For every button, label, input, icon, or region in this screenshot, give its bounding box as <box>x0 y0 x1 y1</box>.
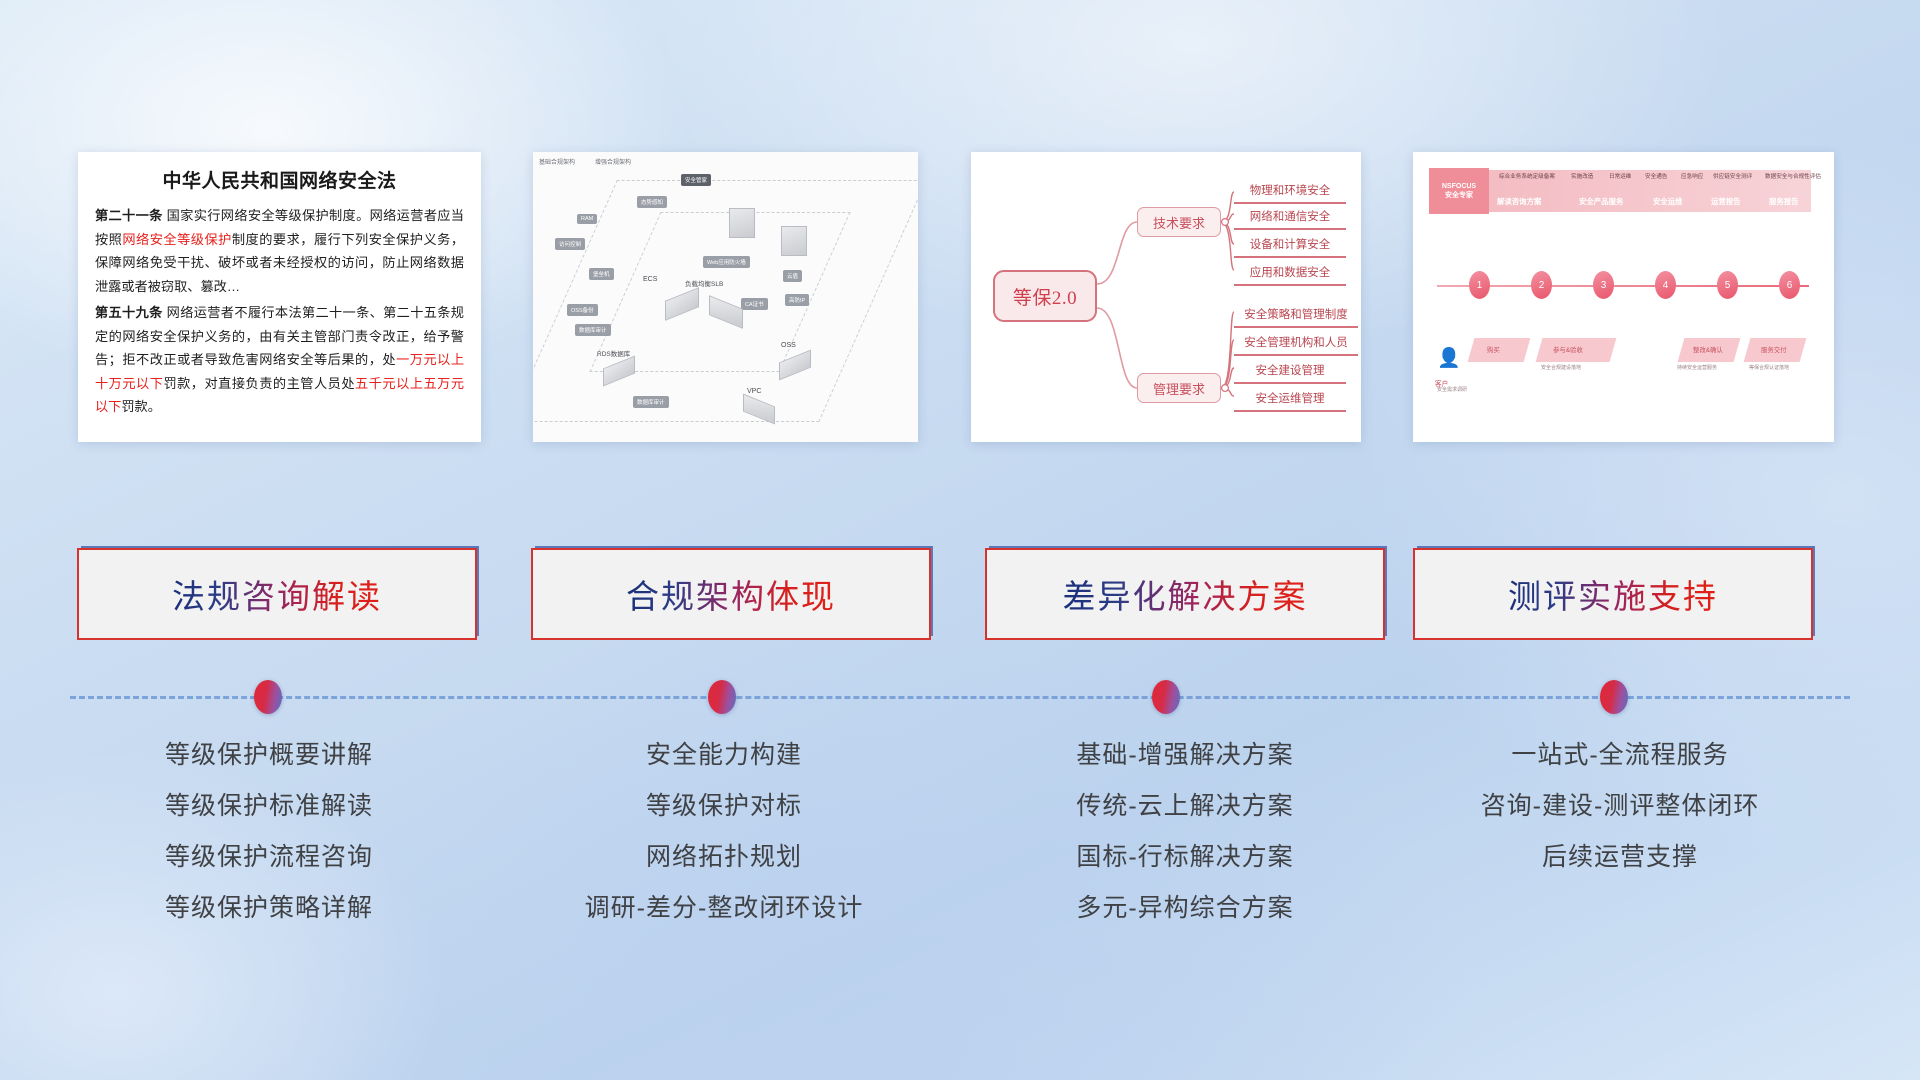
list-item: 国标-行标解决方案 <box>960 832 1410 883</box>
nsfocus-infographic: NSFOCUS 安全专家 综合业务系统定级备案 实施改造 日常运维 安全通告 应… <box>1413 152 1834 442</box>
cloud-node-waf: Web应用防火墙 <box>703 256 750 268</box>
list-item: 基础-增强解决方案 <box>960 730 1410 781</box>
nsfocus-step-6: 6 <box>1779 271 1800 299</box>
timeline-dot-4[interactable] <box>1600 680 1628 714</box>
list-item: 调研-差分-整改闭环设计 <box>515 883 933 934</box>
nsfocus-bottom-sub-3: 持续安全运营服务 <box>1677 364 1717 371</box>
mindmap-leaf-physical-env: 物理和环境安全 <box>1234 178 1346 204</box>
nsfocus-step-3: 3 <box>1593 271 1614 299</box>
cloud-node-ram: RAM <box>577 214 597 224</box>
mindmap-leaf-org-personnel: 安全管理机构和人员 <box>1234 330 1358 356</box>
section-title-label-1: 法规咨询解读 <box>172 570 382 618</box>
list-item: 等级保护策略详解 <box>60 883 478 934</box>
mindmap-root-node[interactable]: 等保2.0 <box>993 270 1097 322</box>
nsfocus-bottom-item-4: 服务交付 <box>1761 345 1787 354</box>
section-title-box-4[interactable]: 测评实施支持 <box>1413 548 1813 640</box>
mindmap-leaf-ops-mgmt: 安全运维管理 <box>1234 386 1346 412</box>
list-item: 等级保护标准解读 <box>60 781 478 832</box>
nsfocus-top-label-4: 安全通告 <box>1645 172 1667 180</box>
customer-icon: 👤 <box>1437 346 1461 370</box>
nsfocus-header-1: 解读咨询方案 <box>1497 196 1541 207</box>
nsfocus-logo: NSFOCUS 安全专家 <box>1429 168 1489 214</box>
nsfocus-header-5: 服务报告 <box>1769 196 1799 207</box>
nsfocus-step-4: 4 <box>1655 271 1676 299</box>
cloud-node-access-control: 访问控制 <box>555 238 585 250</box>
nsfocus-bottom-sub-1: 安全需求调研 <box>1437 386 1467 393</box>
cloud-node-ca-cert: CA证书 <box>741 298 768 310</box>
section-items-3: 基础-增强解决方案 传统-云上解决方案 国标-行标解决方案 多元-异构综合方案 <box>960 730 1410 934</box>
cloud-node-vpc: VPC <box>747 388 761 395</box>
law-document: 中华人民共和国网络安全法 第二十一条 国家实行网络安全等级保护制度。网络运营者应… <box>78 152 481 419</box>
cloud-node-db-audit-left: 数据库审计 <box>575 324 611 336</box>
cloud-node-anti-ddos: 高防IP <box>785 294 809 306</box>
cloud-node-security-manager: 安全管家 <box>681 174 711 186</box>
cloud-node-bastion: 堡垒机 <box>589 268 614 280</box>
nsfocus-header-4: 运营报告 <box>1711 196 1741 207</box>
section-items-4: 一站式-全流程服务 咨询-建设-测评整体闭环 后续运营支撑 <box>1400 730 1840 883</box>
law-article-59: 第五十九条 网络运营者不履行本法第二十一条、第二十五条规定的网络安全保护义务的，… <box>95 301 464 419</box>
nsfocus-top-label-1: 综合业务系统定级备案 <box>1499 172 1555 180</box>
list-item: 后续运营支撑 <box>1400 832 1840 883</box>
section-title-label-3: 差异化解决方案 <box>1063 570 1308 618</box>
section-items-1: 等级保护概要讲解 等级保护标准解读 等级保护流程咨询 等级保护策略详解 <box>60 730 478 934</box>
nsfocus-header-3: 安全运维 <box>1653 196 1683 207</box>
law-article-21-highlight: 网络安全等级保护 <box>122 232 231 247</box>
mindmap-leaf-app-data: 应用和数据安全 <box>1234 260 1346 286</box>
timeline-dashed-line <box>70 696 1850 699</box>
nsfocus-top-label-7: 数据安全与合规性评估 <box>1765 172 1821 180</box>
nsfocus-step-1: 1 <box>1469 271 1490 299</box>
cloud-node-ecs: ECS <box>643 276 657 283</box>
law-article-59-label: 第五十九条 <box>95 305 163 320</box>
nsfocus-step-5: 5 <box>1717 271 1738 299</box>
card-mindmap-dengbao[interactable]: 等保2.0 技术要求 管理要求 物理和环境安全 网络和通信安全 设备和计算安全 … <box>971 152 1361 442</box>
cloud-header-right: 增强合规架构 <box>595 157 631 166</box>
law-article-21: 第二十一条 国家实行网络安全等级保护制度。网络运营者应当按照网络安全等级保护制度… <box>95 204 464 298</box>
nsfocus-bottom-sub-2: 安全合规建设落地 <box>1541 364 1581 371</box>
section-title-box-3[interactable]: 差异化解决方案 <box>985 548 1385 640</box>
card-nsfocus-service-flow[interactable]: NSFOCUS 安全专家 综合业务系统定级备案 实施改造 日常运维 安全通告 应… <box>1413 152 1834 442</box>
nsfocus-bottom-item-3: 整改&确认 <box>1693 345 1723 354</box>
cloud-node-db-audit-bottom: 数据库审计 <box>633 396 669 408</box>
nsfocus-top-label-5: 应急响应 <box>1681 172 1703 180</box>
cloud-icon-server-a <box>729 208 755 238</box>
card-cybersecurity-law[interactable]: 中华人民共和国网络安全法 第二十一条 国家实行网络安全等级保护制度。网络运营者应… <box>78 152 481 442</box>
list-item: 等级保护概要讲解 <box>60 730 478 781</box>
nsfocus-bottom-sub-4: 等保合规认证落地 <box>1749 364 1789 371</box>
cloud-icon-server-b <box>781 226 807 256</box>
cloud-architecture-diagram: 基础合规架构 增强合规架构 安全管家 态势感知 RAM 访问控制 堡垒机 数据库… <box>533 152 918 442</box>
nsfocus-top-label-3: 日常运维 <box>1609 172 1631 180</box>
timeline-dot-3[interactable] <box>1152 680 1180 714</box>
cloud-node-oss-backup: OSS备份 <box>567 304 598 316</box>
nsfocus-bottom-item-2: 参与&验收 <box>1553 345 1583 354</box>
cloud-node-oss: OSS <box>781 342 796 349</box>
law-title: 中华人民共和国网络安全法 <box>95 166 464 193</box>
timeline-dot-1[interactable] <box>254 680 282 714</box>
section-title-label-4: 测评实施支持 <box>1508 570 1718 618</box>
law-article-21-label: 第二十一条 <box>95 208 163 223</box>
list-item: 咨询-建设-测评整体闭环 <box>1400 781 1840 832</box>
nsfocus-bottom-item-1: 购买 <box>1487 345 1500 354</box>
list-item: 一站式-全流程服务 <box>1400 730 1840 781</box>
cloud-header-left: 基础合规架构 <box>539 157 575 166</box>
law-article-59-mid: 罚款，对直接负责的主管人员处 <box>163 376 355 391</box>
cloud-node-situational-awareness: 态势感知 <box>637 196 667 208</box>
mindmap-leaf-device-compute: 设备和计算安全 <box>1234 232 1346 258</box>
reference-cards-row: 中华人民共和国网络安全法 第二十一条 国家实行网络安全等级保护制度。网络运营者应… <box>0 0 1920 460</box>
timeline-dot-2[interactable] <box>708 680 736 714</box>
list-item: 网络拓扑规划 <box>515 832 933 883</box>
cloud-node-slb: 负载均衡SLB <box>685 278 723 288</box>
nsfocus-logo-line1: NSFOCUS <box>1442 182 1476 191</box>
section-title-box-1[interactable]: 法规咨询解读 <box>77 548 477 640</box>
list-item: 等级保护对标 <box>515 781 933 832</box>
section-items-2: 安全能力构建 等级保护对标 网络拓扑规划 调研-差分-整改闭环设计 <box>515 730 933 934</box>
nsfocus-step-2: 2 <box>1531 271 1552 299</box>
section-title-label-2: 合规架构体现 <box>626 570 836 618</box>
mindmap-leaf-construction-mgmt: 安全建设管理 <box>1234 358 1346 384</box>
mindmap-leaf-policy-system: 安全策略和管理制度 <box>1234 302 1358 328</box>
mindmap: 等保2.0 技术要求 管理要求 物理和环境安全 网络和通信安全 设备和计算安全 … <box>971 152 1361 442</box>
nsfocus-header-2: 安全产品服务 <box>1579 196 1623 207</box>
section-title-box-2[interactable]: 合规架构体现 <box>531 548 931 640</box>
cloud-node-cdn-shield: 云盾 <box>783 270 802 282</box>
nsfocus-timeline-line <box>1437 285 1809 287</box>
law-article-59-end: 罚款。 <box>121 399 161 414</box>
mindmap-leaf-network-comm: 网络和通信安全 <box>1234 204 1346 230</box>
list-item: 多元-异构综合方案 <box>960 883 1410 934</box>
list-item: 传统-云上解决方案 <box>960 781 1410 832</box>
list-item: 等级保护流程咨询 <box>60 832 478 883</box>
nsfocus-logo-line2: 安全专家 <box>1445 191 1473 200</box>
nsfocus-top-label-6: 供应链安全测评 <box>1713 172 1752 180</box>
cloud-node-rds: RDS数据库 <box>597 348 630 358</box>
list-item: 安全能力构建 <box>515 730 933 781</box>
mindmap-branch-management[interactable]: 管理要求 <box>1137 373 1221 403</box>
mindmap-branch-technical[interactable]: 技术要求 <box>1137 207 1221 237</box>
card-cloud-architecture[interactable]: 基础合规架构 增强合规架构 安全管家 态势感知 RAM 访问控制 堡垒机 数据库… <box>533 152 918 442</box>
nsfocus-top-label-2: 实施改造 <box>1571 172 1593 180</box>
